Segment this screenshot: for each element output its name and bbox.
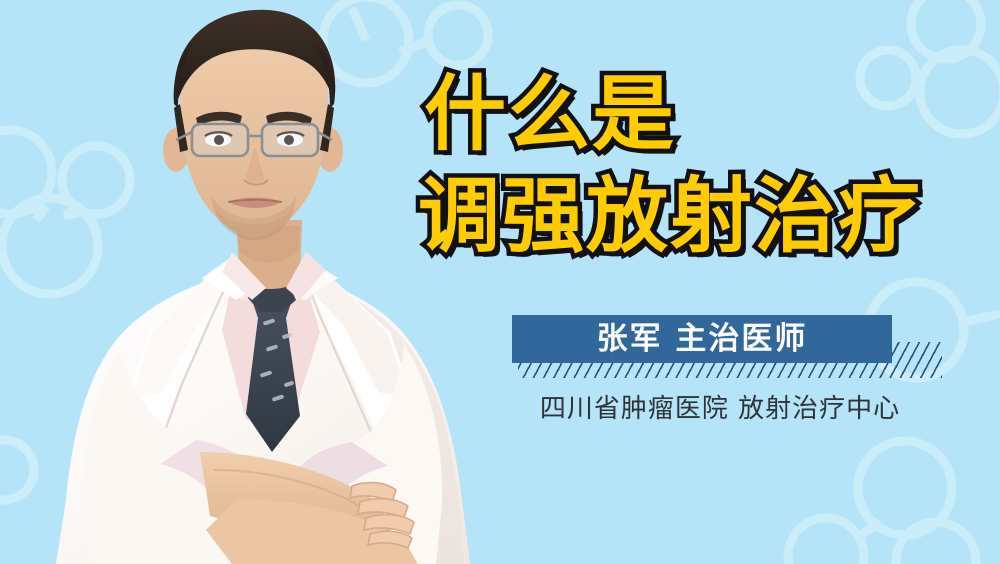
affiliation-text: 四川省肿瘤医院 放射治疗中心 [500,388,940,425]
doctor-name-and-title: 张军 主治医师 [597,324,808,355]
name-banner: 张军 主治医师 [512,315,892,363]
headline-block: 什么是 调强放射治疗 [418,74,988,258]
headline-line-2: 调强放射治疗 [418,176,988,258]
headline-line-1: 什么是 [424,74,988,156]
name-banner-group: 张军 主治医师 [500,310,940,382]
video-cover-canvas: 什么是 调强放射治疗 张军 主治医师 四川省肿瘤医院 放射治疗中心 [0,0,1000,564]
